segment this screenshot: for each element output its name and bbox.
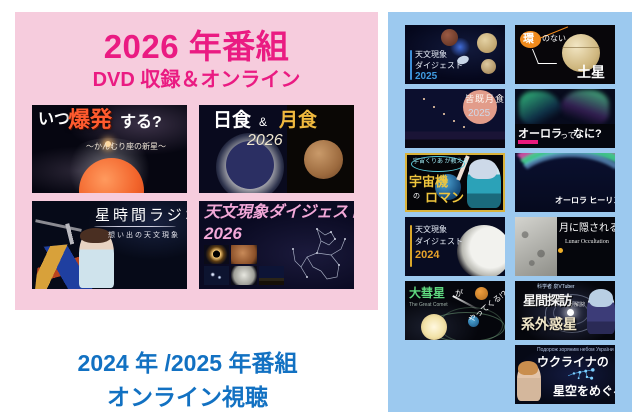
- program-thumbnail-ukraine-starry-sky[interactable]: Подорож зоряним небом України ウクライナの 星空を…: [515, 345, 615, 404]
- bottom-heading-line2: オンライン視聴: [0, 378, 375, 412]
- photo-lunar-eclipse: [231, 245, 256, 264]
- spacecraft-sub: ロマン: [425, 191, 464, 204]
- eclipse-ampersand: &: [259, 116, 267, 128]
- page-subtitle: DVD 収録＆オンライン: [15, 70, 378, 90]
- half-moon-icon: [457, 225, 505, 276]
- exoplanet-small-label: が解説!: [569, 303, 585, 308]
- program-thumbnail-what-is-aurora[interactable]: オーロラ って なに?: [515, 89, 615, 148]
- program-thumbnail-nova[interactable]: いつ 爆発 する? 〜かんむり座の新星〜: [32, 105, 187, 193]
- radio-title-underline: [94, 226, 176, 227]
- aurora-healing-title: オーロラ ヒーリング: [555, 197, 615, 205]
- program-thumbnail-eclipse-2026[interactable]: 日食 & 月食 2026: [199, 105, 354, 193]
- program-thumbnail-great-comet[interactable]: 大彗星 が The Great Comet やってくる!?: [405, 281, 505, 340]
- moon-trail-dot: [453, 120, 455, 122]
- digest2025-line1: 天文現象: [415, 51, 447, 59]
- planet-mars-icon: [441, 29, 458, 46]
- photo-star-cluster: [204, 266, 229, 285]
- digest2024-line2: ダイジェスト: [415, 238, 463, 246]
- aurora-curtain-left: [519, 91, 561, 125]
- lunar-eclipse-year: 2025: [468, 109, 490, 119]
- moon-trail-dot: [463, 126, 465, 128]
- aurora-title-marker: [518, 140, 538, 144]
- exoplanet-main-title: 系外惑星: [521, 317, 577, 331]
- occultation-title: 月に隠される星々: [559, 224, 615, 234]
- radio-subtitle: 想い出の天文現象: [108, 232, 180, 239]
- program-thumbnail-saturn-no-rings[interactable]: 環 のない 土星: [515, 25, 615, 84]
- digest2024-accent-bar: [410, 225, 412, 267]
- spacecraft-no: の: [413, 193, 420, 200]
- program-thumbnail-digest-2026[interactable]: 天文現象ダイジェスト 2026: [199, 201, 354, 289]
- comet-title-part1: 大彗星: [409, 287, 445, 299]
- program-grid-archive: 天文現象 ダイジェスト 2025 環 のない 土星: [405, 25, 617, 404]
- moon-trail-dot: [433, 106, 435, 108]
- photo-solar-eclipse: [204, 245, 229, 264]
- program-thumbnail-digest-2024[interactable]: 天文現象 ダイジェスト 2024: [405, 217, 505, 276]
- spacecraft-main: 宇宙機: [409, 175, 448, 188]
- digest2024-year: 2024: [415, 250, 439, 261]
- digest2025-line2: ダイジェスト: [415, 62, 463, 70]
- lunar-eclipse-title: 皆既月食: [465, 95, 505, 104]
- program-thumbnail-exoplanets[interactable]: 科学者 泉VTuber 星間探訪 が解説! 系外惑星: [515, 281, 615, 340]
- blood-moon: [304, 140, 343, 179]
- occultation-subtitle: Lunar Occultation: [565, 239, 609, 245]
- nova-title-part2: 爆発: [68, 109, 112, 131]
- program-thumbnail-aurora-healing[interactable]: オーロラ ヒーリング: [515, 153, 615, 212]
- presenter-hair: [518, 361, 538, 375]
- digest2024-line1: 天文現象: [415, 226, 447, 234]
- aurora-curtain-right: [561, 90, 609, 125]
- program-thumbnail-total-lunar-eclipse-2025[interactable]: 皆既月食 2025: [405, 89, 505, 148]
- page-title: 2026 年番組: [15, 30, 378, 63]
- right-blue-panel: 天文現象 ダイジェスト 2025 環 のない 土星: [388, 12, 632, 412]
- eclipse-year: 2026: [247, 133, 283, 149]
- poster-canvas: 2026 年番組 DVD 収録＆オンライン いつ 爆発 する? 〜かんむり座の新…: [0, 0, 640, 420]
- digest2026-year: 2026: [204, 225, 242, 242]
- sun-icon: [421, 314, 447, 340]
- ukraine-line2: 星空をめぐる旅: [553, 385, 615, 397]
- photo-landscape-sky: [259, 266, 284, 285]
- digest2025-year: 2025: [415, 72, 437, 82]
- comet-title-part2: が: [455, 290, 463, 298]
- nova-title-part1: いつ: [38, 112, 70, 128]
- vtuber-hair: [589, 289, 613, 307]
- nova-title-part3: する?: [120, 115, 162, 131]
- comet-subtitle: The Great Comet: [409, 303, 448, 308]
- moon-trail-dot: [443, 113, 445, 115]
- digest2025-accent-bar: [410, 50, 412, 80]
- moon-surface-photo: [515, 217, 557, 276]
- saturn-main-label: 土星: [577, 65, 605, 79]
- saturn-ring-edge-line: [562, 47, 600, 48]
- program-thumbnail-spacecraft-romance[interactable]: 宇宙くりあ が教える 宇宙機 の ロマン: [405, 153, 505, 212]
- eclipse-title-lunar: 月食: [279, 111, 317, 130]
- bottom-heading-line1: 2024 年 /2025 年番組: [0, 344, 375, 378]
- photo-empty: [259, 245, 284, 264]
- program-thumbnail-lunar-occultation[interactable]: 月に隠される星々 Lunar Occultation: [515, 217, 615, 276]
- aurora-title-part3: なに?: [573, 129, 602, 140]
- exoplanet-overlay-label: 星間探訪: [523, 294, 571, 307]
- photo-full-moon: [231, 266, 256, 285]
- digest2026-title: 天文現象ダイジェスト: [204, 205, 354, 221]
- occulted-star-icon: [558, 248, 563, 253]
- program-thumbnail-digest-2025[interactable]: 天文現象 ダイジェスト 2025: [405, 25, 505, 84]
- nova-subtitle: 〜かんむり座の新星〜: [86, 143, 166, 151]
- aurora-title-part1: オーロラ: [518, 129, 562, 140]
- constellation-line-art: [287, 223, 349, 285]
- ukraine-tag: Подорож зоряним небом України: [537, 348, 614, 353]
- program-thumbnail-star-time-radio[interactable]: 星時間ラジオ 想い出の天文現象: [32, 201, 187, 289]
- vtuber-hair: [469, 159, 497, 179]
- saturn-badge-label: 環: [523, 34, 534, 45]
- ukraine-line1: ウクライナの: [537, 356, 609, 368]
- eclipse-title-solar: 日食: [213, 111, 251, 130]
- spacecraft-tag: 宇宙くりあ が教える: [413, 159, 469, 165]
- radio-title: 星時間ラジオ: [95, 208, 187, 223]
- saturn-mid-label: のない: [542, 35, 566, 43]
- grid-spacer: [405, 345, 505, 404]
- left-pink-panel: 2026 年番組 DVD 収録＆オンライン いつ 爆発 する? 〜かんむり座の新…: [15, 12, 378, 310]
- program-grid-2026: いつ 爆発 する? 〜かんむり座の新星〜 日食 & 月食 2026: [32, 105, 361, 295]
- exoplanet-tag: 科学者 泉VTuber: [537, 285, 575, 290]
- digest2026-photo-grid: [204, 245, 284, 285]
